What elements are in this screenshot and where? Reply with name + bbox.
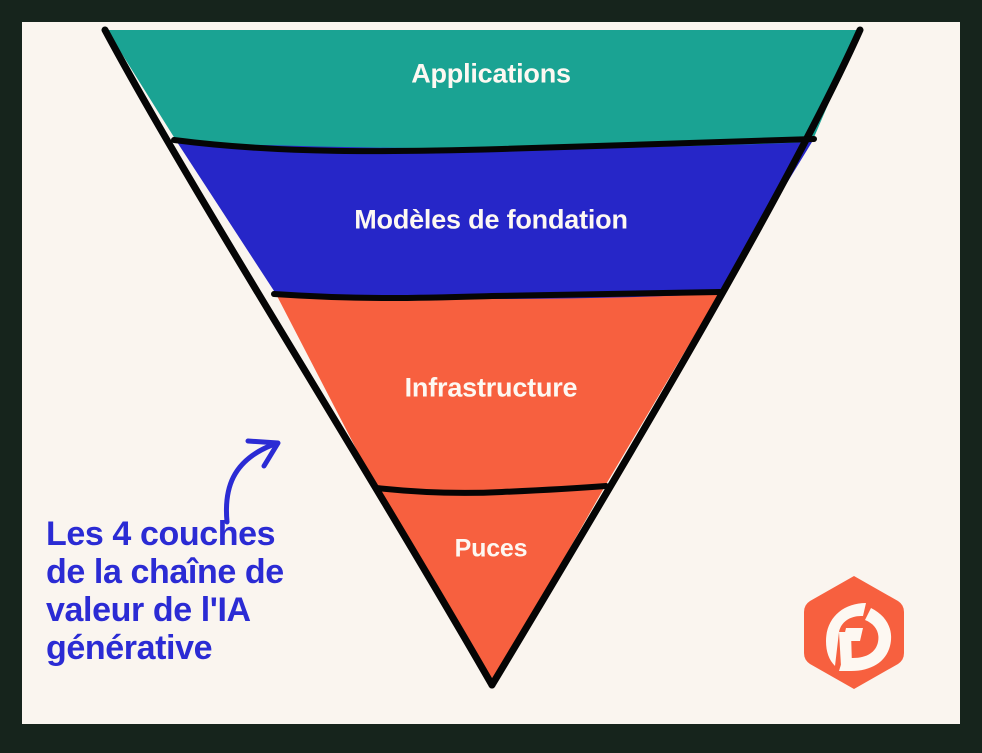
hexagon-logo xyxy=(795,570,913,695)
layer-label-applications: Applications xyxy=(411,59,571,90)
caption-line-3: valeur de l'IA xyxy=(46,591,366,629)
layer-label-foundation: Modèles de fondation xyxy=(354,205,628,236)
poster-canvas: Applications Modèles de fondation Infras… xyxy=(22,22,960,724)
layer-label-infrastructure: Infrastructure xyxy=(405,373,578,404)
layer-label-chips: Puces xyxy=(455,535,528,564)
caption-line-2: de la chaîne de xyxy=(46,553,366,591)
caption-line-1: Les 4 couches xyxy=(46,515,366,553)
poster-frame: Applications Modèles de fondation Infras… xyxy=(0,0,982,753)
caption-text: Les 4 couches de la chaîne de valeur de … xyxy=(46,515,366,667)
caption-line-4: générative xyxy=(46,629,366,667)
